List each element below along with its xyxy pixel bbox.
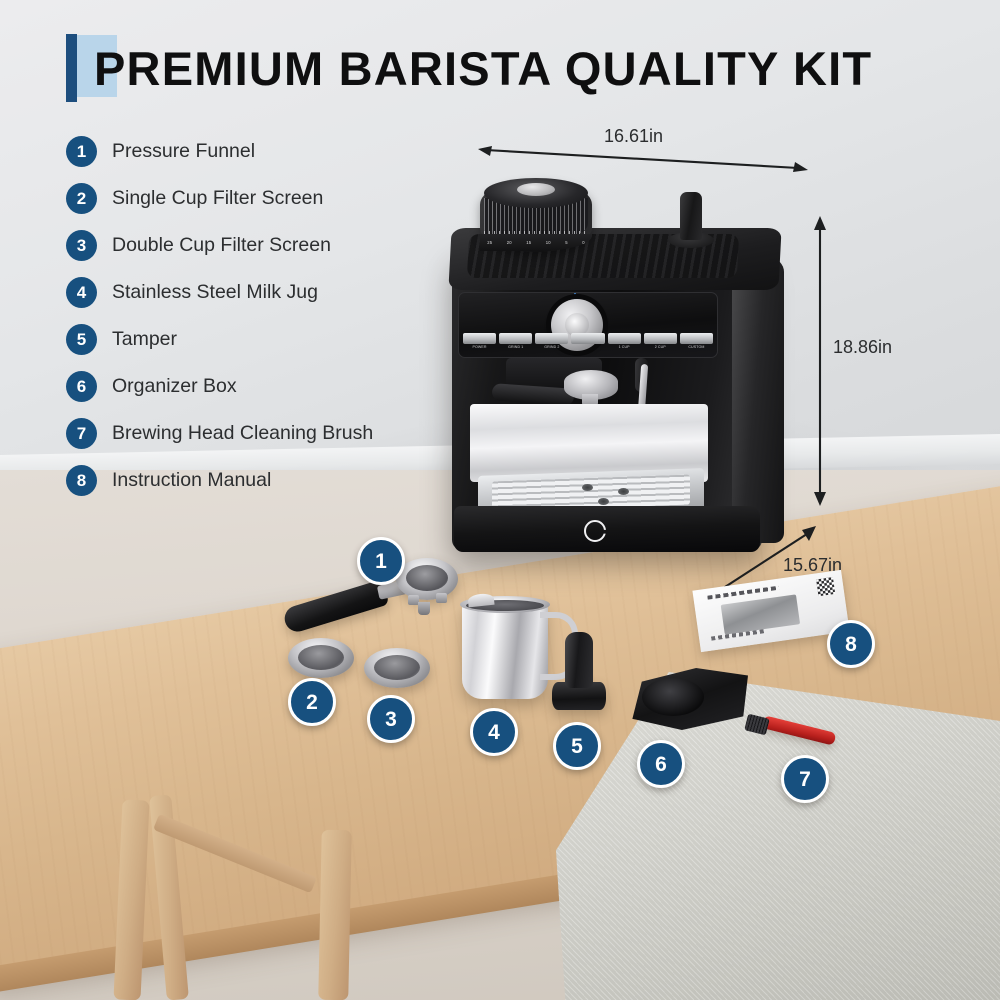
hopper-cap xyxy=(517,183,555,196)
button-label-custom: CUSTOM xyxy=(680,345,713,349)
milk-jug-body xyxy=(462,601,548,699)
title-text: PREMIUM BARISTA QUALITY KIT xyxy=(94,41,872,96)
button-row xyxy=(463,333,713,355)
qr-code-icon xyxy=(816,577,835,596)
page-title: PREMIUM BARISTA QUALITY KIT xyxy=(66,31,872,105)
list-item[interactable]: 5 Tamper xyxy=(66,316,446,363)
height-arrow-icon xyxy=(808,216,832,506)
callout-badge-4[interactable]: 4 xyxy=(470,708,518,756)
list-item[interactable]: 6 Organizer Box xyxy=(66,363,446,410)
drip-tray-hole xyxy=(598,498,609,505)
legend-label-7: Brewing Head Cleaning Brush xyxy=(112,422,373,445)
callout-badge-5[interactable]: 5 xyxy=(553,722,601,770)
button-labels: POWER GRIND 1 GRIND 2 1 CUP 2 CUP CUSTOM xyxy=(463,345,713,349)
scale-value: 25 xyxy=(487,240,492,245)
legend-label-2: Single Cup Filter Screen xyxy=(112,187,323,210)
callout-badge-1[interactable]: 1 xyxy=(357,537,405,585)
button-label-grind1: GRIND 1 xyxy=(499,345,532,349)
button-label-1cup: 1 CUP xyxy=(608,345,641,349)
scale-value: 10 xyxy=(546,240,551,245)
organizer-box-cavity xyxy=(642,678,704,716)
legend-badge-4: 4 xyxy=(66,277,97,308)
callout-badge-6[interactable]: 6 xyxy=(637,740,685,788)
list-item[interactable]: 3 Double Cup Filter Screen xyxy=(66,222,446,269)
table-leg xyxy=(318,830,352,1000)
legend-label-8: Instruction Manual xyxy=(112,469,271,492)
legend-badge-2: 2 xyxy=(66,183,97,214)
portafilter-lug xyxy=(436,593,447,603)
list-item[interactable]: 1 Pressure Funnel xyxy=(66,128,446,175)
legend-badge-5: 5 xyxy=(66,324,97,355)
steam-knob[interactable] xyxy=(680,192,702,240)
custom-button[interactable] xyxy=(680,333,713,344)
scale-value: 5 xyxy=(565,240,568,245)
list-item[interactable]: 7 Brewing Head Cleaning Brush xyxy=(66,410,446,457)
legend-label-6: Organizer Box xyxy=(112,375,237,398)
legend-badge-1: 1 xyxy=(66,136,97,167)
portafilter-outlet xyxy=(418,602,430,615)
legend-label-5: Tamper xyxy=(112,328,177,351)
scale-value: 20 xyxy=(507,240,512,245)
single-cup-filter-interior xyxy=(298,645,344,670)
button-label-grind2: GRIND 2 xyxy=(535,345,568,349)
legend-label-4: Stainless Steel Milk Jug xyxy=(112,281,318,304)
parts-legend-list: 1 Pressure Funnel 2 Single Cup Filter Sc… xyxy=(66,128,446,504)
scale-value: 0 xyxy=(582,240,585,245)
button-label-power: POWER xyxy=(463,345,496,349)
legend-label-1: Pressure Funnel xyxy=(112,140,255,163)
grind-2-button[interactable] xyxy=(535,333,568,344)
one-cup-button[interactable] xyxy=(608,333,641,344)
button-label-2cup: 2 CUP xyxy=(644,345,677,349)
callout-badge-8[interactable]: 8 xyxy=(827,620,875,668)
title-accent-bar xyxy=(66,34,77,102)
drip-tray-hole xyxy=(582,484,593,491)
legend-label-3: Double Cup Filter Screen xyxy=(112,234,331,257)
product-infographic: 25 20 15 10 5 0 POWER xyxy=(0,0,1000,1000)
list-item[interactable]: 2 Single Cup Filter Screen xyxy=(66,175,446,222)
list-item[interactable]: 8 Instruction Manual xyxy=(66,457,446,504)
legend-badge-8: 8 xyxy=(66,465,97,496)
legend-badge-3: 3 xyxy=(66,230,97,261)
scale-value: 15 xyxy=(526,240,531,245)
portafilter-interior xyxy=(406,565,448,591)
width-label: 16.61in xyxy=(604,126,663,147)
button-label-blank xyxy=(571,345,604,349)
list-item[interactable]: 4 Stainless Steel Milk Jug xyxy=(66,269,446,316)
double-cup-filter-interior xyxy=(374,655,420,680)
two-cup-button[interactable] xyxy=(644,333,677,344)
control-panel: POWER GRIND 1 GRIND 2 1 CUP 2 CUP CUSTOM xyxy=(458,292,718,358)
machine-right-side xyxy=(732,258,784,543)
legend-badge-7: 7 xyxy=(66,418,97,449)
width-arrow-icon xyxy=(478,146,808,172)
legend-badge-6: 6 xyxy=(66,371,97,402)
callout-badge-7[interactable]: 7 xyxy=(781,755,829,803)
callout-badge-3[interactable]: 3 xyxy=(367,695,415,743)
drip-tray-hole xyxy=(618,488,629,495)
height-label: 18.86in xyxy=(833,337,892,358)
blank-button[interactable] xyxy=(571,333,604,344)
tamper-handle xyxy=(565,632,593,688)
callout-badge-2[interactable]: 2 xyxy=(288,678,336,726)
grind-1-button[interactable] xyxy=(499,333,532,344)
power-button[interactable] xyxy=(463,333,496,344)
